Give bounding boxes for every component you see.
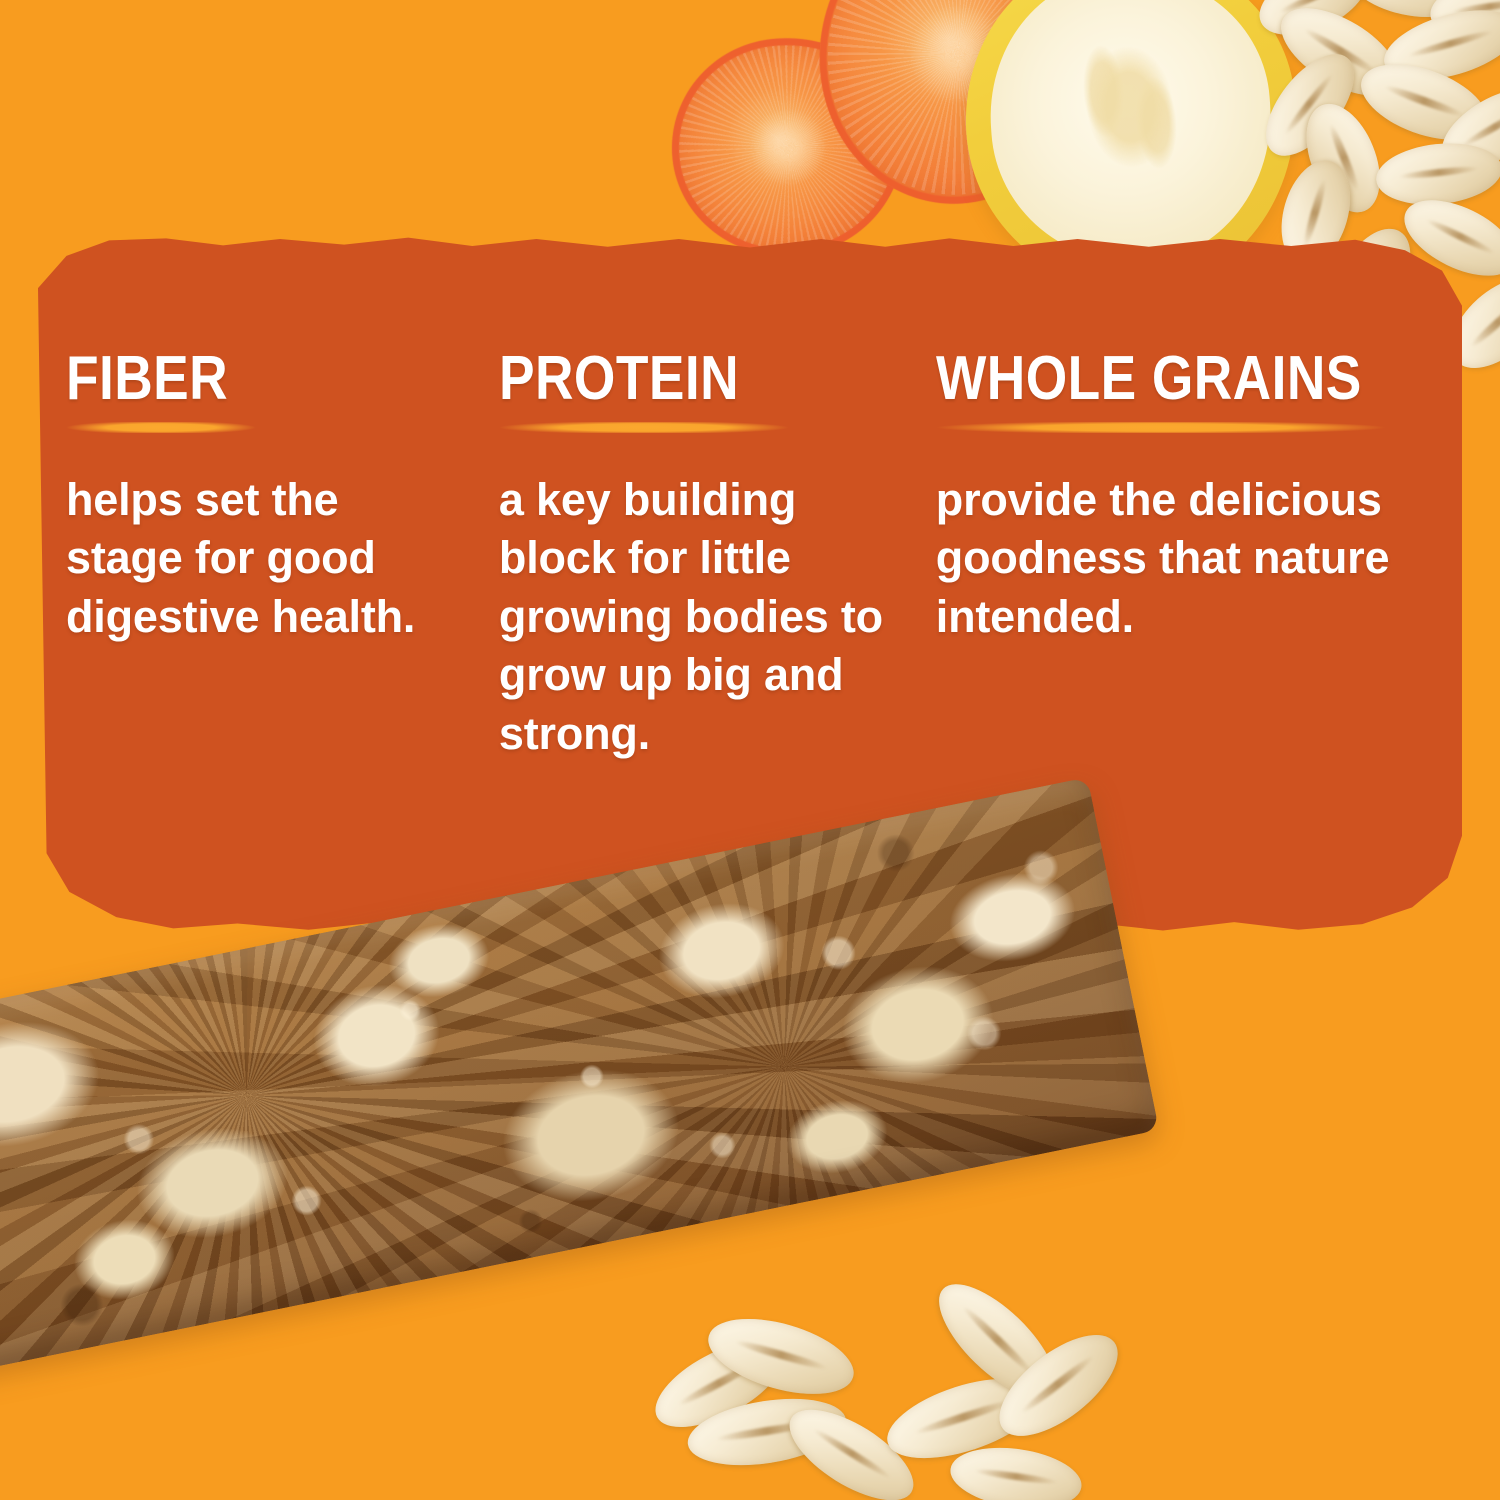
oat-flake-icon xyxy=(683,1389,851,1476)
carrot-slice-icon xyxy=(798,0,1118,224)
oat-flake-icon xyxy=(643,1323,797,1444)
oat-flake-icon xyxy=(1292,93,1394,223)
oat-flake-icon xyxy=(1267,0,1413,114)
heading-underline-protein xyxy=(499,422,789,433)
oat-flake-icon xyxy=(1250,39,1371,170)
oats-scatter-bottom xyxy=(640,1300,1110,1500)
oat-flake-icon xyxy=(1351,50,1497,156)
page-title: Nutrition Benefits Panel xyxy=(0,0,1,1)
benefits-columns: FIBER helps set the stage for good diges… xyxy=(38,232,1462,934)
oat-flake-icon xyxy=(878,1363,1050,1474)
heading-underline-whole-grains xyxy=(936,422,1386,433)
benefits-card: FIBER helps set the stage for good diges… xyxy=(38,232,1462,934)
oat-flake-icon xyxy=(776,1392,927,1500)
benefit-body-protein: a key building block for little growing … xyxy=(499,471,891,764)
oat-flake-icon xyxy=(983,1316,1134,1454)
heading-underline-fiber xyxy=(66,422,256,433)
benefit-body-whole-grains: provide the delicious goodness that natu… xyxy=(936,471,1456,647)
oat-flake-icon xyxy=(1249,0,1377,50)
benefit-column-fiber: FIBER helps set the stage for good diges… xyxy=(66,350,499,934)
product-benefits-panel: Nutrition Benefits Panel FIBER help xyxy=(0,0,1500,1500)
benefit-heading-whole-grains: WHOLE GRAINS xyxy=(936,350,1389,409)
oat-flake-icon xyxy=(947,1440,1085,1500)
benefit-body-fiber: helps set the stage for good digestive h… xyxy=(66,471,466,647)
oat-flake-icon xyxy=(921,1266,1073,1415)
carrot-rind xyxy=(798,0,1118,224)
banana-flesh xyxy=(981,0,1281,273)
oat-flake-icon xyxy=(1376,0,1500,93)
carrot-rind xyxy=(661,26,915,267)
benefit-heading-protein: PROTEIN xyxy=(499,350,875,409)
oat-flake-icon xyxy=(1426,0,1500,46)
oat-flake-icon xyxy=(700,1305,862,1409)
benefit-heading-fiber: FIBER xyxy=(66,350,438,409)
oat-flake-icon xyxy=(1429,72,1500,184)
carrot-slice-icon xyxy=(661,26,915,267)
oat-flake-icon xyxy=(1341,0,1478,28)
oat-flake-icon xyxy=(1373,138,1500,211)
